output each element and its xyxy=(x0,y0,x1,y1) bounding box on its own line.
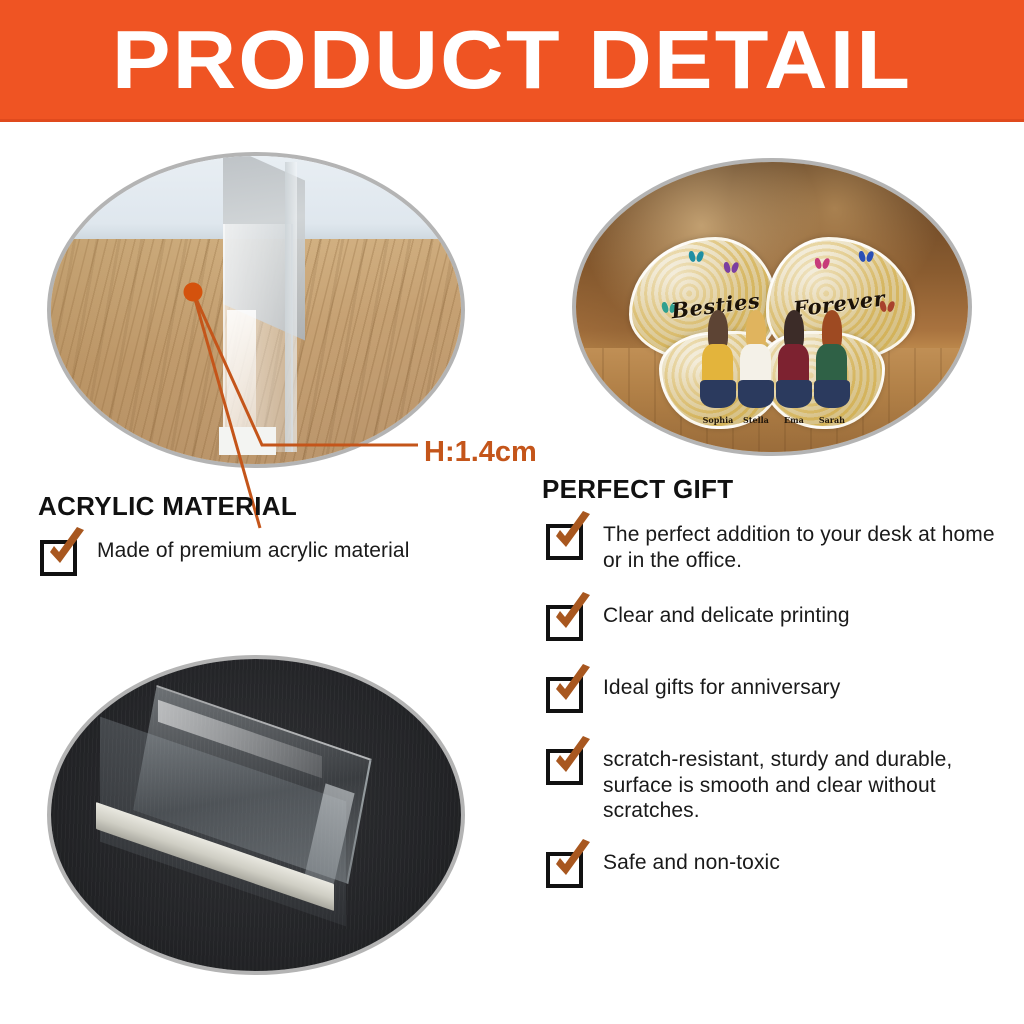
list-item: Made of premium acrylic material xyxy=(40,538,510,576)
list-item-label: The perfect addition to your desk at hom… xyxy=(603,522,996,573)
acrylic-block-photo xyxy=(47,655,465,975)
figure-skirt xyxy=(700,380,736,408)
figure-name: Ema xyxy=(775,415,812,425)
friend-figure: Stella xyxy=(737,308,774,408)
butterfly-plaque-shape: Besties Forever Sophia Stella xyxy=(623,237,921,428)
list-item: scratch-resistant, sturdy and durable, s… xyxy=(546,747,996,824)
check-icon xyxy=(546,749,583,785)
check-icon xyxy=(546,605,583,641)
list-item: Clear and delicate printing xyxy=(546,603,996,641)
figure-name: Sophia xyxy=(699,415,736,425)
list-item-label: Safe and non-toxic xyxy=(603,850,780,876)
mini-butterfly-icon xyxy=(815,258,829,269)
mini-butterfly-icon xyxy=(859,251,873,262)
butterfly-scene-image: Besties Forever Sophia Stella xyxy=(576,162,968,452)
list-item-label: Ideal gifts for anniversary xyxy=(603,675,840,701)
friend-figures-group: Sophia Stella Ema xyxy=(695,308,856,408)
figure-skirt xyxy=(738,380,774,408)
check-icon xyxy=(546,677,583,713)
perfect-gift-heading: PERFECT GIFT xyxy=(542,474,733,505)
list-item-label: Clear and delicate printing xyxy=(603,603,850,629)
figure-skirt xyxy=(814,380,850,408)
figure-name: Stella xyxy=(737,415,774,425)
perfect-gift-bullets: The perfect addition to your desk at hom… xyxy=(546,522,996,888)
check-icon xyxy=(546,852,583,888)
list-item-label: Made of premium acrylic material xyxy=(97,538,409,564)
figure-skirt xyxy=(776,380,812,408)
acrylic-block-image xyxy=(51,659,461,971)
list-item: Ideal gifts for anniversary xyxy=(546,675,996,713)
friend-figure: Sophia xyxy=(699,308,736,408)
acrylic-material-bullets: Made of premium acrylic material xyxy=(40,538,510,602)
check-icon xyxy=(546,524,583,560)
friend-figure: Sarah xyxy=(813,308,850,408)
acrylic-material-heading: ACRYLIC MATERIAL xyxy=(38,491,297,522)
mini-butterfly-icon xyxy=(689,251,703,262)
check-icon xyxy=(40,540,77,576)
list-item-label: scratch-resistant, sturdy and durable, s… xyxy=(603,747,996,824)
butterfly-plaque-photo: Besties Forever Sophia Stella xyxy=(572,158,972,456)
figure-name: Sarah xyxy=(813,415,850,425)
page-title: PRODUCT DETAIL xyxy=(0,12,1024,108)
list-item: Safe and non-toxic xyxy=(546,850,996,888)
height-callout-dot xyxy=(184,283,203,302)
friend-figure: Ema xyxy=(775,308,812,408)
list-item: The perfect addition to your desk at hom… xyxy=(546,522,996,573)
height-callout-label: H:1.4cm xyxy=(424,436,537,469)
mini-butterfly-icon xyxy=(724,262,738,273)
header-divider xyxy=(0,119,1024,122)
